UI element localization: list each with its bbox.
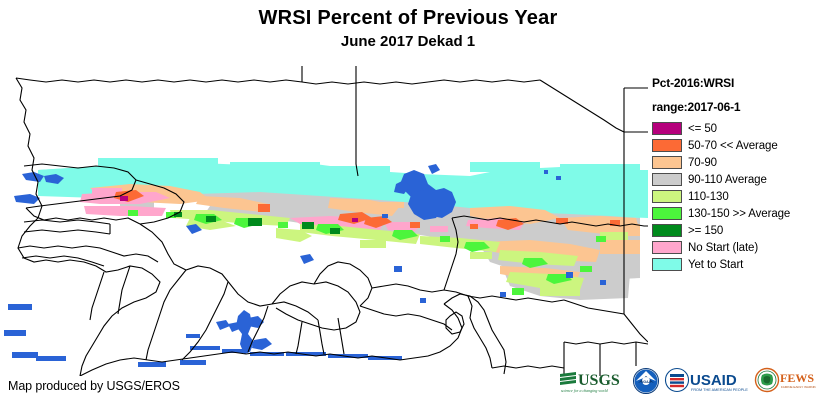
- svg-text:FAMINE EARLY WARNING SYSTEMS N: FAMINE EARLY WARNING SYSTEMS NETWORK: [781, 385, 816, 389]
- legend-swatch: [652, 224, 682, 237]
- legend-item: >= 150: [652, 222, 816, 239]
- map-graphic: [0, 66, 648, 376]
- map-credit: Map produced by USGS/EROS: [8, 379, 180, 393]
- svg-text:NOAA: NOAA: [641, 380, 652, 384]
- legend-item-label: <= 50: [688, 123, 717, 135]
- legend-item-label: 50-70 << Average: [688, 140, 778, 152]
- legend-item-label: 90-110 Average: [688, 174, 767, 186]
- legend-range: range:2017-06-1: [652, 100, 816, 114]
- legend-item-label: 110-130: [688, 191, 729, 203]
- noaa-icon: NOAA: [632, 367, 660, 395]
- svg-text:science for a changing world: science for a changing world: [561, 388, 609, 393]
- legend-item-label: >= 150: [688, 225, 723, 237]
- page-title: WRSI Percent of Previous Year: [0, 6, 816, 30]
- legend-item: 130-150 >> Average: [652, 205, 816, 222]
- map-canvas[interactable]: [0, 66, 648, 376]
- usaid-icon: USAID FROM THE AMERICAN PEOPLE: [664, 366, 750, 396]
- legend-item-label: 70-90: [688, 157, 717, 169]
- legend-item: No Start (late): [652, 239, 816, 256]
- legend-swatch: [652, 207, 682, 220]
- legend-item: 110-130: [652, 188, 816, 205]
- title-block: WRSI Percent of Previous Year June 2017 …: [0, 6, 816, 52]
- legend-swatch: [652, 258, 682, 271]
- legend-item-label: 130-150 >> Average: [688, 208, 790, 220]
- legend-item: <= 50: [652, 120, 816, 137]
- page-subtitle: June 2017 Dekad 1: [0, 32, 816, 52]
- logo-bar: USGS science for a changing world NOAA: [558, 362, 810, 400]
- svg-text:FROM THE AMERICAN PEOPLE: FROM THE AMERICAN PEOPLE: [691, 388, 748, 392]
- legend-swatch: [652, 173, 682, 186]
- map-page: WRSI Percent of Previous Year June 2017 …: [0, 0, 816, 403]
- legend-item-label: Yet to Start: [688, 259, 743, 271]
- legend-swatch: [652, 156, 682, 169]
- usgs-icon: USGS science for a changing world: [558, 366, 628, 396]
- usaid-logo: USAID FROM THE AMERICAN PEOPLE: [664, 364, 750, 398]
- legend-swatch: [652, 139, 682, 152]
- usgs-logo: USGS science for a changing world: [558, 364, 628, 398]
- noaa-logo: NOAA: [632, 364, 660, 398]
- legend-swatch: [652, 122, 682, 135]
- legend-item: 70-90: [652, 154, 816, 171]
- fewsnet-icon: FEWS NET FAMINE EARLY WARNING SYSTEMS NE…: [754, 366, 816, 396]
- svg-text:USGS: USGS: [578, 372, 620, 389]
- legend-item-label: No Start (late): [688, 242, 758, 254]
- legend-swatch: [652, 241, 682, 254]
- legend-item: 50-70 << Average: [652, 137, 816, 154]
- legend-header: Pct-2016:WRSI: [652, 76, 816, 90]
- svg-text:USAID: USAID: [690, 372, 737, 389]
- svg-text:FEWS NET: FEWS NET: [780, 371, 816, 385]
- fewsnet-logo: FEWS NET FAMINE EARLY WARNING SYSTEMS NE…: [754, 364, 816, 398]
- legend-swatch: [652, 190, 682, 203]
- legend-panel: Pct-2016:WRSI range:2017-06-1 <= 5050-70…: [648, 70, 816, 300]
- legend-items: <= 5050-70 << Average70-9090-110 Average…: [652, 120, 816, 273]
- legend-item: 90-110 Average: [652, 171, 816, 188]
- legend-item: Yet to Start: [652, 256, 816, 273]
